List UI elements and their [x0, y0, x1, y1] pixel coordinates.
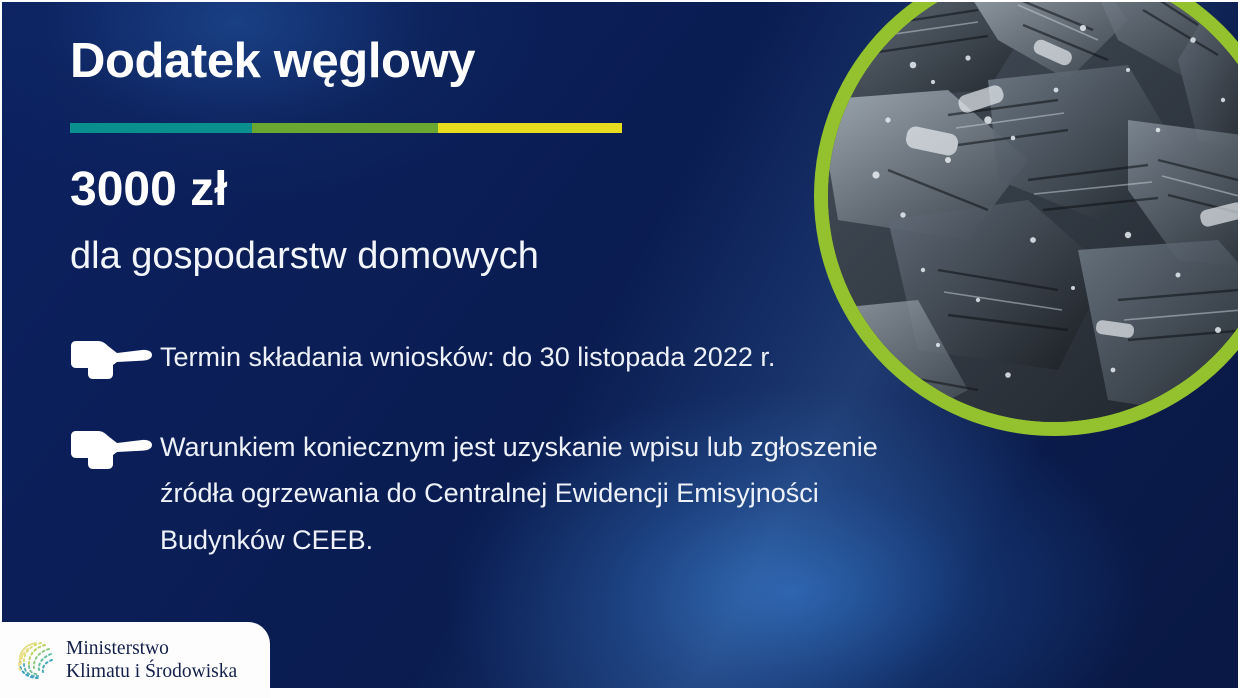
navy-background-panel: Dodatek węglowy 3000 zł dla gospodarstw … — [2, 2, 1238, 688]
amount-subtitle: dla gospodarstw domowych — [70, 234, 539, 280]
bullet-list: Termin składania wniosków: do 30 listopa… — [68, 334, 1108, 605]
accent-rule — [70, 123, 622, 133]
list-item-text: Termin składania wniosków: do 30 listopa… — [160, 334, 950, 380]
ministry-logo: Ministerstwo Klimatu i Środowiska — [0, 622, 270, 698]
list-item: Termin składania wniosków: do 30 listopa… — [68, 334, 1108, 382]
accent-rule-segment-teal — [70, 123, 252, 133]
amount-value: 3000 zł — [70, 164, 227, 217]
ministry-spiral-icon — [14, 635, 58, 685]
ministry-logo-text: Ministerstwo Klimatu i Środowiska — [66, 637, 237, 683]
page-title: Dodatek węglowy — [70, 36, 475, 87]
pointing-hand-icon — [68, 334, 160, 382]
pointing-hand-icon — [68, 424, 160, 472]
ministry-logo-line-1: Ministerstwo — [66, 637, 237, 660]
ministry-logo-line-2: Klimatu i Środowiska — [66, 660, 237, 683]
infographic-slide: Dodatek węglowy 3000 zł dla gospodarstw … — [0, 0, 1240, 698]
list-item: Warunkiem koniecznym jest uzyskanie wpis… — [68, 424, 1108, 563]
list-item-text: Warunkiem koniecznym jest uzyskanie wpis… — [160, 424, 950, 563]
accent-rule-segment-green — [252, 123, 438, 133]
accent-rule-segment-yellow — [438, 123, 622, 133]
